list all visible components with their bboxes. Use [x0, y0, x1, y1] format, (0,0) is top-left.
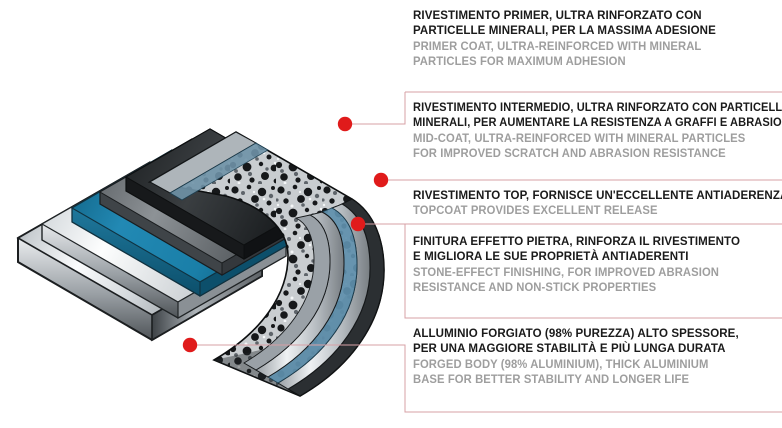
callout-english-line: PRIMER COAT, ULTRA-REINFORCED WITH MINER… [413, 39, 756, 54]
callout-english-line: TOPCOAT PROVIDES EXCELLENT RELEASE [413, 203, 756, 218]
callout-italian-line: MINERALI, PER AUMENTARE LA RESISTENZA A … [413, 115, 756, 130]
callout-text-mid-coat: RIVESTIMENTO INTERMEDIO, ULTRA RINFORZAT… [413, 100, 782, 161]
callout-english-line: PARTICLES FOR MAXIMUM ADHESION [413, 54, 756, 69]
annotation-text-column: RIVESTIMENTO PRIMER, ULTRA RINFORZATO CO… [405, 0, 782, 428]
callout-english-line: STONE-EFFECT FINISHING, FOR IMPROVED ABR… [413, 265, 756, 280]
callout-english-line: MID-COAT, ULTRA-REINFORCED WITH MINERAL … [413, 131, 756, 146]
callout-text-topcoat: RIVESTIMENTO TOP, FORNISCE UN'ECCELLENTE… [413, 188, 782, 219]
callout-italian-line: RIVESTIMENTO PRIMER, ULTRA RINFORZATO CO… [413, 8, 756, 23]
callout-text-stone-effect: FINITURA EFFETTO PIETRA, RINFORZA IL RIV… [413, 234, 782, 295]
callout-english-line: FOR IMPROVED SCRATCH AND ABRASION RESIST… [413, 146, 756, 161]
callout-italian-line: ALLUMINIO FORGIATO (98% PUREZZA) ALTO SP… [413, 326, 756, 341]
coating-cross-section-diagram: RIVESTIMENTO PRIMER, ULTRA RINFORZATO CO… [0, 0, 782, 428]
callout-english-line: RESISTANCE AND NON-STICK PROPERTIES [413, 280, 756, 295]
callout-italian-line: PER UNA MAGGIORE STABILITÀ E PIÙ LUNGA D… [413, 341, 756, 356]
callout-italian-line: RIVESTIMENTO TOP, FORNISCE UN'ECCELLENTE… [413, 188, 756, 203]
callout-text-forged-aluminium: ALLUMINIO FORGIATO (98% PUREZZA) ALTO SP… [413, 326, 782, 387]
callout-english-line: FORGED BODY (98% ALUMINIUM), THICK ALUMI… [413, 357, 756, 372]
callout-italian-line: PARTICELLE MINERALI, PER LA MASSIMA ADES… [413, 23, 756, 38]
callout-italian-line: E MIGLIORA LE SUE PROPRIETÀ ANTIADERENTI [413, 249, 756, 264]
callout-text-primer-coat: RIVESTIMENTO PRIMER, ULTRA RINFORZATO CO… [413, 8, 782, 69]
callout-italian-line: FINITURA EFFETTO PIETRA, RINFORZA IL RIV… [413, 234, 756, 249]
callout-english-line: BASE FOR BETTER STABILITY AND LONGER LIF… [413, 372, 756, 387]
callout-italian-line: RIVESTIMENTO INTERMEDIO, ULTRA RINFORZAT… [413, 100, 756, 115]
pan-cross-section-illustration [0, 0, 410, 428]
